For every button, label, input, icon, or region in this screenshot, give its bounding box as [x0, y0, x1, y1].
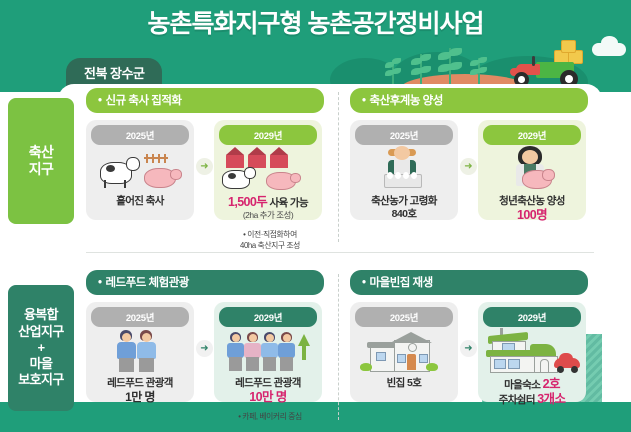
bullet-icon: •: [98, 95, 102, 107]
highlight-value: 2호: [543, 377, 560, 391]
row-village: •레드푸드 체험관광 2025년 레: [86, 270, 594, 425]
section-header-new-barn: •신규 축사 집적화: [86, 88, 324, 113]
before-card: 2025년 빈집 5호: [350, 302, 458, 402]
year-badge-before: 2025년: [91, 125, 189, 145]
sidebar-item-livestock-district[interactable]: 축산지구: [8, 98, 74, 224]
renovated-house-card: 2029년: [478, 302, 586, 402]
footnote: • 이전·직접화하여40ha 축산지구 조성: [214, 230, 326, 251]
year-badge-after: 2029년: [219, 125, 317, 145]
after-caption: 마을숙소 2호주차쉼터 3개소: [478, 377, 586, 408]
card-group-redfood-tourism: •레드푸드 체험관광 2025년 레: [86, 270, 330, 404]
bullet-icon: •: [362, 95, 366, 107]
after-caption: 레드푸드 관광객10만 명: [214, 377, 322, 406]
before-card: 2025년 축산농가 고령화840호: [350, 120, 458, 220]
cloud-icon: [592, 43, 626, 56]
after-card: 2029년 청년축산농 양성100명: [478, 120, 586, 220]
after-card: 2029년 1,500두: [214, 120, 322, 220]
highlight-value: 10만 명: [249, 390, 286, 404]
two-tourists-art: [86, 330, 194, 377]
after-subtext: (2ha 추가 조성): [214, 210, 322, 221]
barn-livestock-art: [214, 148, 322, 195]
page-title: 농촌특화지구형 농촌공간정비사업: [0, 4, 631, 40]
sidebar-item-label: 융복합산업지구+마을보호지구: [18, 307, 63, 388]
sidebar-item-label: 축산지구: [29, 144, 54, 179]
transition-arrow-icon: ➜: [196, 158, 213, 175]
bullet-icon: •: [98, 277, 102, 289]
elderly-farmer-art: [350, 148, 458, 195]
year-badge-after: 2029년: [483, 125, 581, 145]
card-group-successor-farmer: •축산후계농 양성 2025년: [350, 88, 594, 222]
before-card: 2025년 흩어진 축사: [86, 120, 194, 220]
year-badge-after: 2029년: [219, 307, 317, 327]
bullet-icon: •: [362, 277, 366, 289]
year-badge-before: 2025년: [91, 307, 189, 327]
after-card: 2029년: [214, 302, 322, 402]
before-caption: 빈집 5호: [350, 377, 458, 390]
scattered-livestock-art: [86, 148, 194, 195]
after-caption: 1,500두 사육 가능 (2ha 추가 조성): [214, 195, 322, 221]
tab-edge: [0, 104, 22, 218]
tractor-icon: [508, 48, 594, 88]
row-divider: [86, 252, 594, 253]
footnote: • 카페, 베이커리 중심: [214, 412, 326, 423]
empty-house-art: [350, 330, 458, 377]
row-livestock: •신규 축사 집적화 2025년: [86, 88, 594, 238]
after-caption: 청년축산농 양성100명: [478, 195, 586, 224]
sidebar-item-village-district[interactable]: 융복합산업지구+마을보호지구: [8, 285, 74, 411]
year-badge-after: 2029년: [483, 307, 581, 327]
before-card: 2025년 레드푸드 관광객1만 명: [86, 302, 194, 402]
section-header-successor-farmer: •축산후계농 양성: [350, 88, 588, 113]
infographic-root: 농촌특화지구형 농촌공간정비사업 전북 장수군 축산지구 융복합산업지구+마을보…: [0, 0, 631, 432]
section-header-redfood-tourism: •레드푸드 체험관광: [86, 270, 324, 295]
card-group-empty-house: •마을빈집 재생 2025년: [350, 270, 594, 404]
year-badge-before: 2025년: [355, 125, 453, 145]
year-badge-before: 2025년: [355, 307, 453, 327]
section-header-empty-house: •마을빈집 재생: [350, 270, 588, 295]
before-caption: 레드푸드 관광객1만 명: [86, 377, 194, 405]
highlight-value: 100명: [517, 208, 547, 222]
card-group-new-barn: •신규 축사 집적화 2025년: [86, 88, 330, 222]
highlight-value-2: 3개소: [537, 392, 565, 406]
transition-arrow-icon: ➜: [196, 340, 213, 357]
before-caption: 흩어진 축사: [86, 195, 194, 208]
young-farmer-pig-art: [478, 148, 586, 195]
four-tourists-art: [214, 330, 322, 377]
column-divider: [338, 274, 339, 420]
transition-arrow-icon: ➜: [460, 158, 477, 175]
before-caption: 축산농가 고령화840호: [350, 195, 458, 221]
column-divider: [338, 92, 339, 242]
renovated-house-car-art: [478, 330, 586, 377]
transition-arrow-icon: ➜: [460, 340, 477, 357]
highlight-value: 1,500두: [228, 195, 267, 209]
